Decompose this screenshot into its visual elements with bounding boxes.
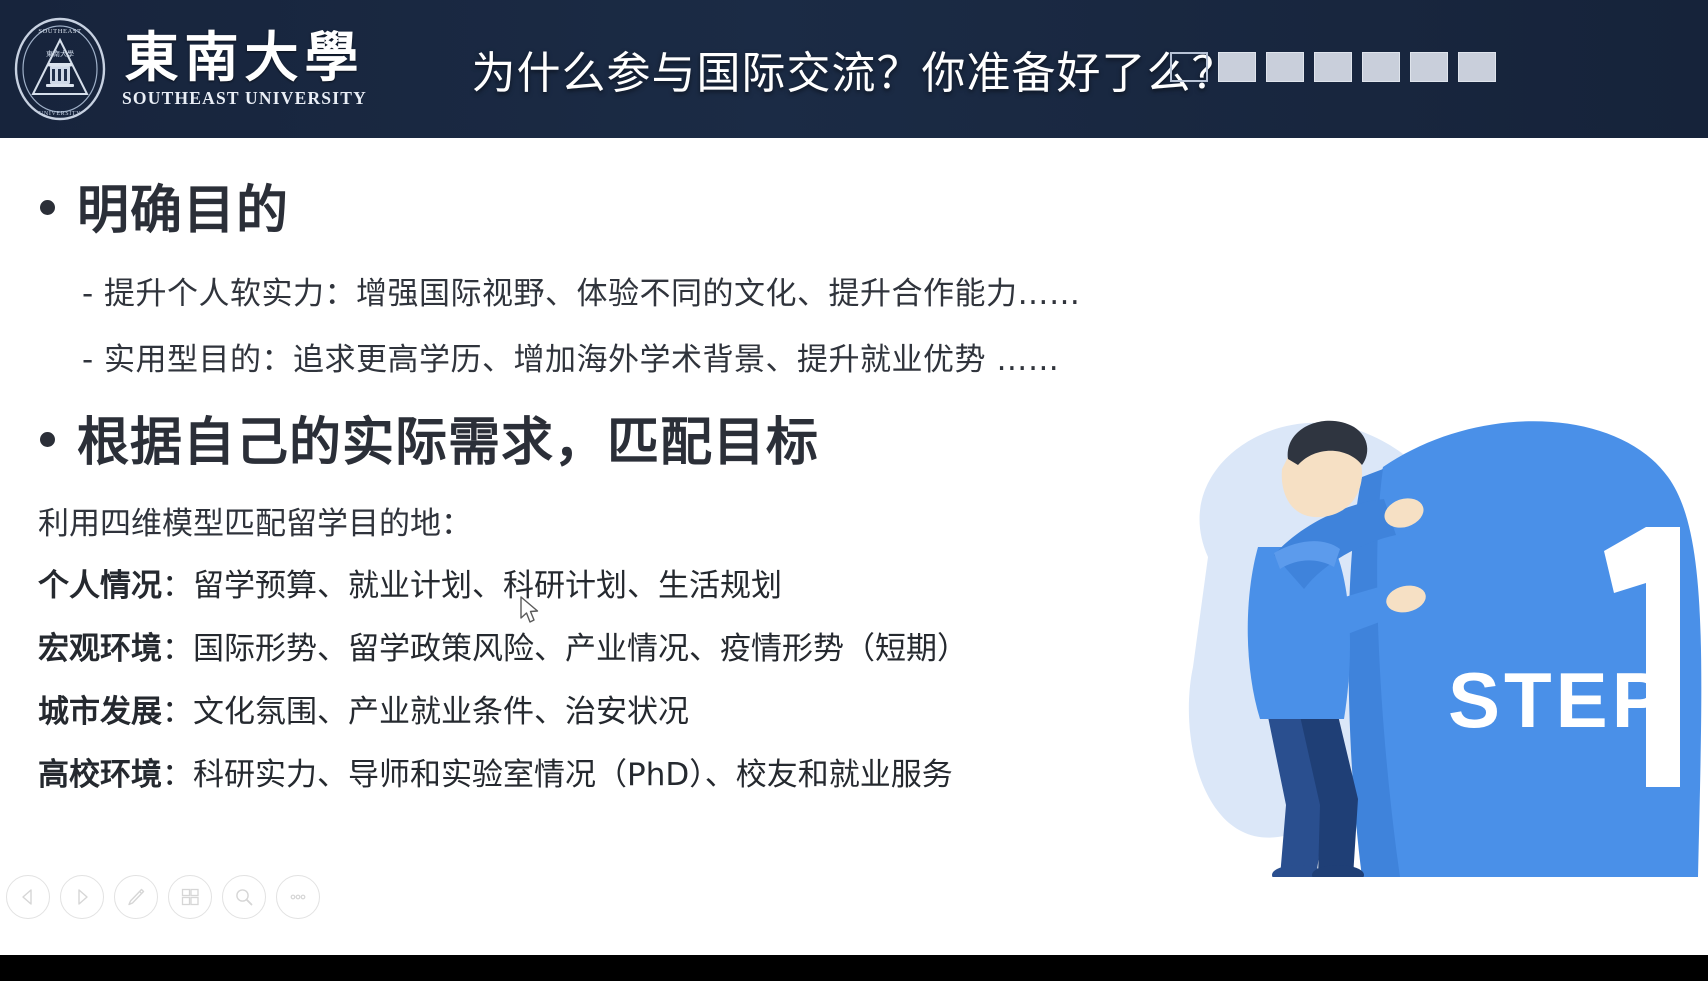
presentation-toolbar [0, 865, 340, 929]
progress-step-7[interactable] [1458, 52, 1496, 82]
dimension-sep-1: ： [162, 568, 193, 604]
dimension-sep-4: ： [162, 757, 193, 793]
dimension-value-1: 留学预算、就业计划、科研计划、生活规划 [193, 568, 782, 604]
progress-step-5[interactable] [1362, 52, 1400, 82]
triangle-right-icon [72, 887, 92, 907]
dimension-value-3: 文化氛围、产业就业条件、治安状况 [193, 694, 689, 730]
sub-bullet-1: - 提升个人软实力：增强国际视野、体验不同的文化、提升合作能力…… [82, 268, 1081, 313]
progress-indicator [1170, 52, 1496, 82]
next-slide-button[interactable] [60, 875, 104, 919]
lead-text: 利用四维模型匹配留学目的地： [38, 498, 472, 543]
mouse-cursor [519, 596, 541, 626]
magnifier-icon [233, 886, 255, 908]
logo-english-name: SOUTHEAST UNIVERSITY [122, 88, 367, 109]
dimension-sep-3: ： [162, 694, 193, 730]
bullet-heading-2-row: 根据自己的实际需求，匹配目标 [40, 400, 819, 475]
slide-overview-button[interactable] [168, 875, 212, 919]
slide-canvas: SOUTHEAST UNIVERSITY 東南大學 東南大學 SOUTHEAST… [0, 0, 1708, 955]
dimension-label-1: 个人情况 [38, 568, 162, 604]
svg-text:UNIVERSITY: UNIVERSITY [39, 111, 81, 117]
bullet-dot-icon [40, 432, 55, 447]
bullet-dot-icon [40, 200, 55, 215]
annotate-button[interactable] [114, 875, 158, 919]
slide-header: SOUTHEAST UNIVERSITY 東南大學 東南大學 SOUTHEAST… [0, 0, 1708, 138]
dimension-row-1: 个人情况：留学预算、就业计划、科研计划、生活规划 [38, 560, 782, 605]
logo-chinese-name: 東南大學 [124, 30, 364, 84]
university-logo: SOUTHEAST UNIVERSITY 東南大學 東南大學 SOUTHEAST… [12, 16, 367, 122]
dimension-row-4: 高校环境：科研实力、导师和实验室情况（PhD）、校友和就业服务 [38, 749, 953, 794]
dimension-row-3: 城市发展：文化氛围、产业就业条件、治安状况 [38, 686, 689, 731]
dimension-sep-2: ： [162, 631, 193, 667]
step-word-text: STEP [1448, 656, 1668, 744]
zoom-button[interactable] [222, 875, 266, 919]
bullet-heading-1-row: 明确目的 [40, 168, 289, 243]
progress-step-4[interactable] [1314, 52, 1352, 82]
progress-step-3[interactable] [1266, 52, 1304, 82]
svg-text:東南大學: 東南大學 [46, 49, 74, 58]
dimension-value-4: 科研实力、导师和实验室情况（PhD）、校友和就业服务 [193, 757, 953, 793]
ellipsis-icon [287, 886, 309, 908]
university-seal-icon: SOUTHEAST UNIVERSITY 東南大學 [12, 16, 108, 122]
dimension-value-2: 国际形势、留学政策风险、产业情况、疫情形势（短期） [193, 631, 968, 667]
progress-step-2[interactable] [1218, 52, 1256, 82]
progress-step-1[interactable] [1170, 52, 1208, 82]
bullet-heading-1: 明确目的 [77, 168, 289, 243]
previous-slide-button[interactable] [6, 875, 50, 919]
dimension-label-3: 城市发展 [38, 694, 162, 730]
bullet-heading-2: 根据自己的实际需求，匹配目标 [77, 400, 819, 475]
more-options-button[interactable] [276, 875, 320, 919]
sub-bullet-2: - 实用型目的：追求更高学历、增加海外学术背景、提升就业优势 …… [82, 334, 1059, 379]
progress-step-6[interactable] [1410, 52, 1448, 82]
screen-letterbox-bottom [0, 955, 1708, 981]
grid-slides-icon [179, 886, 201, 908]
svg-text:SOUTHEAST: SOUTHEAST [38, 28, 81, 35]
step-illustration: STEP [1148, 407, 1708, 877]
dimension-row-2: 宏观环境：国际形势、留学政策风险、产业情况、疫情形势（短期） [38, 623, 968, 668]
presentation-screen: SOUTHEAST UNIVERSITY 東南大學 東南大學 SOUTHEAST… [0, 0, 1708, 981]
triangle-left-icon [18, 887, 38, 907]
dimension-label-2: 宏观环境 [38, 631, 162, 667]
pen-icon [125, 886, 147, 908]
dimension-label-4: 高校环境 [38, 757, 162, 793]
